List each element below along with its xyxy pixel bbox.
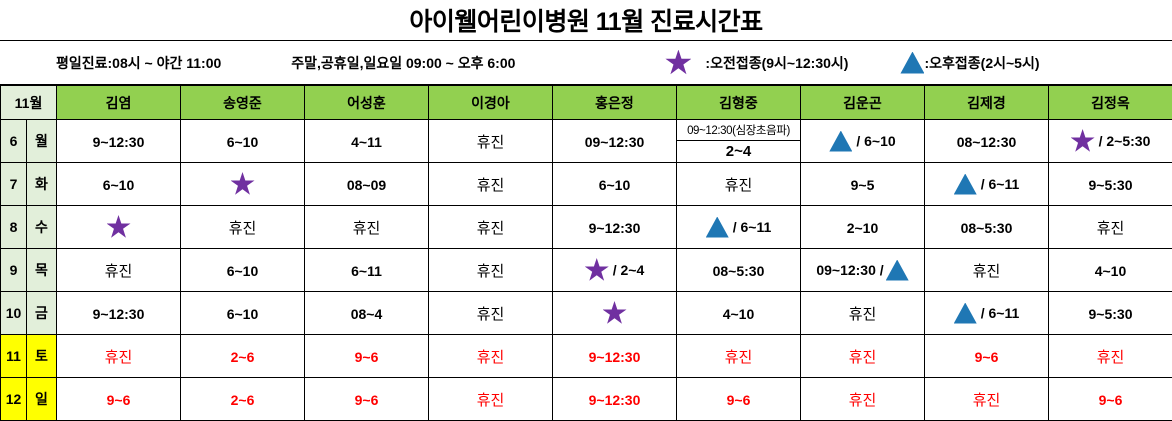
schedule-cell: 휴진 <box>429 120 553 163</box>
schedule-cell: 4~10 <box>1049 249 1172 292</box>
schedule-cell-content: 2~10 <box>847 218 879 234</box>
schedule-cell: 휴진 <box>925 249 1049 292</box>
closed-label: 휴진 <box>105 346 133 367</box>
star-icon <box>665 50 691 76</box>
schedule-cell-content: 9~6 <box>107 390 131 406</box>
schedule-cell-content: 휴진 <box>477 304 505 320</box>
schedule-cell: 휴진 <box>801 378 925 421</box>
schedule-cell-content: / 2~5:30 <box>1071 132 1151 148</box>
schedule-cell-content: 4~10 <box>723 304 755 320</box>
schedule-cell-content: 9~6 <box>1099 390 1123 406</box>
hours-label: / 2~4 <box>613 262 645 278</box>
closed-label: 휴진 <box>353 217 381 238</box>
schedule-cell-content: 08~5:30 <box>961 218 1013 234</box>
hours-label: 6~10 <box>227 134 259 150</box>
schedule-cell-content: 9~12:30 <box>93 304 145 320</box>
schedule-cell-content <box>107 218 131 234</box>
schedule-cell: / 6~11 <box>925 163 1049 206</box>
table-row: 12일9~62~69~6휴진9~12:309~6휴진휴진9~6 <box>1 378 1172 421</box>
legend-afternoon-vaccine: :오후접종(2시~5시) <box>900 52 1039 74</box>
schedule-cell-content: 휴진 <box>477 132 505 148</box>
table-row: 8수휴진휴진휴진9~12:30/ 6~112~1008~5:30휴진 <box>1 206 1172 249</box>
day-of-week-cell: 금 <box>27 292 57 335</box>
schedule-cell-content: 9~5:30 <box>1089 175 1133 191</box>
table-body: 6월9~12:306~104~11휴진09~12:3009~12:30(심장초음… <box>1 120 1172 421</box>
table-row: 11토휴진2~69~6휴진9~12:30휴진휴진9~6휴진 <box>1 335 1172 378</box>
schedule-cell-content: / 6~11 <box>954 175 1020 191</box>
star-icon <box>603 301 627 325</box>
schedule-cell-content: 08~4 <box>351 304 383 320</box>
schedule-cell: 09~12:30 <box>553 120 677 163</box>
hours-label: 08~4 <box>351 306 383 322</box>
hours-label: 9~6 <box>975 349 999 365</box>
schedule-cell-content: 휴진 <box>229 218 257 234</box>
hours-label: 6~10 <box>103 177 135 193</box>
schedule-cell: 08~5:30 <box>925 206 1049 249</box>
closed-label: 휴진 <box>105 260 133 281</box>
schedule-cell-content: 휴진 <box>477 175 505 191</box>
hours-label: 6~11 <box>351 263 382 279</box>
hours-label: / 6~10 <box>856 133 895 149</box>
schedule-cell <box>57 206 181 249</box>
triangle-icon <box>954 303 977 324</box>
weekday-hours-label: 평일진료:08시 ~ 야간 11:00 <box>56 53 221 73</box>
schedule-cell-hours: 2~4 <box>677 141 800 162</box>
schedule-cell: 08~5:30 <box>677 249 801 292</box>
hours-label: 9~6 <box>727 392 751 408</box>
hours-label: 2~10 <box>847 220 879 236</box>
hours-label: 9~6 <box>355 392 379 408</box>
schedule-cell-content: 휴진 <box>973 261 1001 277</box>
schedule-cell: 9~12:30 <box>553 206 677 249</box>
schedule-cell-content: / 6~11 <box>706 218 772 234</box>
closed-label: 휴진 <box>477 303 505 324</box>
schedule-cell-content: 4~10 <box>1095 261 1127 277</box>
hours-label: 9~6 <box>107 392 131 408</box>
schedule-cell: / 2~4 <box>553 249 677 292</box>
table-row: 10금9~12:306~1008~4휴진4~10휴진/ 6~119~5:30 <box>1 292 1172 335</box>
schedule-cell-content: 휴진 <box>477 347 505 363</box>
doctor-column-header: 어성훈 <box>305 86 429 120</box>
triangle-icon <box>706 217 729 238</box>
date-number-cell: 7 <box>1 163 27 206</box>
closed-label: 휴진 <box>477 131 505 152</box>
day-of-week-cell: 화 <box>27 163 57 206</box>
schedule-cell: 휴진 <box>677 163 801 206</box>
triangle-icon <box>954 174 977 195</box>
doctor-column-header: 김제경 <box>925 86 1049 120</box>
day-of-week-cell: 토 <box>27 335 57 378</box>
hours-label: 9~5:30 <box>1089 177 1133 193</box>
date-number-cell: 9 <box>1 249 27 292</box>
schedule-cell: / 6~11 <box>677 206 801 249</box>
schedule-cell: 9~6 <box>305 335 429 378</box>
schedule-cell-content: 6~10 <box>227 132 259 148</box>
hours-label: 2~6 <box>231 392 255 408</box>
schedule-cell: 08~4 <box>305 292 429 335</box>
schedule-cell <box>181 163 305 206</box>
date-number-cell: 10 <box>1 292 27 335</box>
schedule-cell-content: / 6~11 <box>954 304 1020 320</box>
doctor-column-header: 김염 <box>57 86 181 120</box>
schedule-cell-content: 6~10 <box>599 175 631 191</box>
schedule-cell: 9~12:30 <box>57 120 181 163</box>
schedule-cell: 휴진 <box>429 249 553 292</box>
schedule-cell-content: 6~10 <box>227 261 259 277</box>
schedule-cell: 2~6 <box>181 335 305 378</box>
star-icon <box>231 172 255 196</box>
date-number-cell: 6 <box>1 120 27 163</box>
day-of-week-cell: 월 <box>27 120 57 163</box>
closed-label: 휴진 <box>229 217 257 238</box>
schedule-cell: 9~12:30 <box>553 335 677 378</box>
title-bar: 아이웰어린이병원 11월 진료시간표 <box>0 0 1172 41</box>
hours-label: 09~12:30 / <box>816 262 883 278</box>
hours-label: 4~10 <box>723 306 755 322</box>
legend-afternoon-vaccine-label: :오후접종(2시~5시) <box>924 53 1039 73</box>
schedule-cell-content: / 2~4 <box>585 261 645 277</box>
hours-label: 08~5:30 <box>713 263 765 279</box>
hours-label: 9~6 <box>355 349 379 365</box>
hours-label: 9~12:30 <box>93 306 145 322</box>
closed-label: 휴진 <box>849 346 877 367</box>
hours-label: / 6~11 <box>981 305 1020 321</box>
schedule-cell: 휴진 <box>57 249 181 292</box>
schedule-cell-content: 휴진 <box>477 261 505 277</box>
closed-label: 휴진 <box>973 389 1001 410</box>
table-row: 6월9~12:306~104~11휴진09~12:3009~12:30(심장초음… <box>1 120 1172 163</box>
schedule-cell-content: 2~6 <box>231 390 255 406</box>
hours-label: 4~11 <box>351 134 382 150</box>
schedule-cell: 휴진 <box>429 378 553 421</box>
schedule-cell-content: 휴진 <box>1097 218 1125 234</box>
hours-label: 9~5:30 <box>1089 306 1133 322</box>
schedule-cell-content: 휴진 <box>725 175 753 191</box>
schedule-cell-content: 휴진 <box>353 218 381 234</box>
schedule-cell: 휴진 <box>801 292 925 335</box>
schedule-cell: 휴진 <box>429 206 553 249</box>
hours-label: 2~6 <box>231 349 255 365</box>
triangle-icon <box>886 260 909 281</box>
schedule-cell-content: 6~10 <box>103 175 135 191</box>
schedule-cell: 휴진 <box>57 335 181 378</box>
schedule-cell <box>553 292 677 335</box>
schedule-cell-content: 09~12:30 <box>585 132 645 148</box>
closed-label: 휴진 <box>477 217 505 238</box>
schedule-cell: 휴진 <box>429 335 553 378</box>
schedule-cell-content: 9~12:30 <box>93 132 145 148</box>
schedule-cell-content: 09~12:30 / <box>816 261 908 277</box>
schedule-cell-note: 09~12:30(심장초음파) <box>677 120 800 141</box>
schedule-cell-content: 6~11 <box>351 261 382 277</box>
schedule-cell: 휴진 <box>677 335 801 378</box>
hours-label: 4~10 <box>1095 263 1127 279</box>
schedule-cell-content: 08~09 <box>347 175 386 191</box>
date-number-cell: 11 <box>1 335 27 378</box>
schedule-cell-content: 휴진 <box>477 218 505 234</box>
schedule-cell: / 2~5:30 <box>1049 120 1172 163</box>
closed-label: 휴진 <box>477 389 505 410</box>
date-number-cell: 8 <box>1 206 27 249</box>
schedule-cell: 6~11 <box>305 249 429 292</box>
schedule-cell: 9~12:30 <box>553 378 677 421</box>
schedule-cell-content: 휴진 <box>849 347 877 363</box>
schedule-cell: 09~12:30 / <box>801 249 925 292</box>
schedule-cell-content: 08~5:30 <box>713 261 765 277</box>
schedule-cell: 휴진 <box>801 335 925 378</box>
schedule-cell: 9~5 <box>801 163 925 206</box>
hours-label: 9~12:30 <box>589 392 641 408</box>
schedule-cell: 9~6 <box>677 378 801 421</box>
schedule-cell: 휴진 <box>429 163 553 206</box>
schedule-cell: / 6~11 <box>925 292 1049 335</box>
closed-label: 휴진 <box>1097 217 1125 238</box>
closed-label: 휴진 <box>1097 346 1125 367</box>
doctor-column-header: 송영준 <box>181 86 305 120</box>
schedule-cell: 휴진 <box>305 206 429 249</box>
page-title: 아이웰어린이병원 11월 진료시간표 <box>409 2 762 38</box>
closed-label: 휴진 <box>849 303 877 324</box>
schedule-cell: 휴진 <box>181 206 305 249</box>
schedule-cell-content: 휴진 <box>725 347 753 363</box>
schedule-cell: 6~10 <box>181 120 305 163</box>
schedule-cell: 휴진 <box>1049 206 1172 249</box>
schedule-cell-content: 9~6 <box>355 390 379 406</box>
closed-label: 휴진 <box>973 260 1001 281</box>
schedule-cell: 4~11 <box>305 120 429 163</box>
legend-bar: 평일진료:08시 ~ 야간 11:00 주말,공휴일,일요일 09:00 ~ 오… <box>0 41 1172 85</box>
schedule-cell: 9~5:30 <box>1049 163 1172 206</box>
schedule-cell: 9~5:30 <box>1049 292 1172 335</box>
schedule-cell: 6~10 <box>553 163 677 206</box>
triangle-icon <box>829 131 852 152</box>
schedule-cell: 09~12:30(심장초음파)2~4 <box>677 120 801 163</box>
schedule-cell: 2~10 <box>801 206 925 249</box>
legend-morning-vaccine: :오전접종(9시~12:30시) <box>665 50 848 76</box>
month-header: 11월 <box>1 86 57 120</box>
table-row: 9목휴진6~106~11휴진/ 2~408~5:3009~12:30 /휴진4~… <box>1 249 1172 292</box>
schedule-table: 11월 김염송영준어성훈이경아홍은정김형중김운곤김제경김정옥 6월9~12:30… <box>0 85 1172 421</box>
schedule-cell: 6~10 <box>181 249 305 292</box>
legend-morning-vaccine-label: :오전접종(9시~12:30시) <box>705 53 848 73</box>
schedule-cell-content: 9~5:30 <box>1089 304 1133 320</box>
schedule-cell: / 6~10 <box>801 120 925 163</box>
triangle-icon <box>900 52 924 74</box>
day-of-week-cell: 수 <box>27 206 57 249</box>
closed-label: 휴진 <box>725 346 753 367</box>
schedule-cell-content: 9~6 <box>355 347 379 363</box>
schedule-cell-content: 9~12:30 <box>589 390 641 406</box>
schedule-cell-content: 2~6 <box>231 347 255 363</box>
schedule-cell: 9~6 <box>57 378 181 421</box>
hours-label: 08~5:30 <box>961 220 1013 236</box>
hours-label: 09~12:30 <box>585 134 645 150</box>
schedule-cell-content: / 6~10 <box>829 132 895 148</box>
weekend-hours-label: 주말,공휴일,일요일 09:00 ~ 오후 6:00 <box>291 53 515 73</box>
table-head: 11월 김염송영준어성훈이경아홍은정김형중김운곤김제경김정옥 <box>1 86 1172 120</box>
schedule-cell: 휴진 <box>429 292 553 335</box>
schedule-cell: 9~6 <box>1049 378 1172 421</box>
hours-label: / 6~11 <box>733 219 772 235</box>
closed-label: 휴진 <box>477 174 505 195</box>
hours-label: 9~12:30 <box>589 349 641 365</box>
day-of-week-cell: 일 <box>27 378 57 421</box>
schedule-cell: 9~6 <box>305 378 429 421</box>
schedule-cell-content: 9~12:30 <box>589 218 641 234</box>
schedule-page: 아이웰어린이병원 11월 진료시간표 평일진료:08시 ~ 야간 11:00 주… <box>0 0 1172 421</box>
closed-label: 휴진 <box>477 260 505 281</box>
header-row: 11월 김염송영준어성훈이경아홍은정김형중김운곤김제경김정옥 <box>1 86 1172 120</box>
hours-label: 6~10 <box>227 263 259 279</box>
day-of-week-cell: 목 <box>27 249 57 292</box>
hours-label: / 2~5:30 <box>1099 133 1151 149</box>
table-row: 7화6~1008~09휴진6~10휴진9~5/ 6~119~5:30 <box>1 163 1172 206</box>
schedule-cell: 2~6 <box>181 378 305 421</box>
schedule-cell: 6~10 <box>181 292 305 335</box>
hours-label: 9~12:30 <box>589 220 641 236</box>
schedule-cell-content: 휴진 <box>477 390 505 406</box>
hours-label: 9~6 <box>1099 392 1123 408</box>
schedule-cell-content: 휴진 <box>973 390 1001 406</box>
closed-label: 휴진 <box>849 389 877 410</box>
doctor-column-header: 김형중 <box>677 86 801 120</box>
schedule-cell: 08~09 <box>305 163 429 206</box>
schedule-cell-content: 휴진 <box>1097 347 1125 363</box>
doctor-column-header: 김정옥 <box>1049 86 1172 120</box>
hours-label: 08~12:30 <box>957 134 1017 150</box>
schedule-cell: 휴진 <box>1049 335 1172 378</box>
star-icon <box>585 258 609 282</box>
hours-label: 08~09 <box>347 177 386 193</box>
schedule-cell-content: 08~12:30 <box>957 132 1017 148</box>
doctor-column-header: 이경아 <box>429 86 553 120</box>
schedule-cell-content: 휴진 <box>105 347 133 363</box>
schedule-cell-content: 휴진 <box>849 390 877 406</box>
date-number-cell: 12 <box>1 378 27 421</box>
hours-label: 9~5 <box>851 177 875 193</box>
schedule-cell: 08~12:30 <box>925 120 1049 163</box>
schedule-cell-content: 6~10 <box>227 304 259 320</box>
schedule-cell-content <box>231 175 255 191</box>
schedule-cell: 4~10 <box>677 292 801 335</box>
schedule-cell: 9~6 <box>925 335 1049 378</box>
schedule-cell-content <box>603 304 627 320</box>
closed-label: 휴진 <box>477 346 505 367</box>
schedule-cell: 휴진 <box>925 378 1049 421</box>
hours-label: 9~12:30 <box>93 134 145 150</box>
hours-label: 6~10 <box>599 177 631 193</box>
schedule-cell: 9~12:30 <box>57 292 181 335</box>
schedule-cell-content: 4~11 <box>351 132 382 148</box>
schedule-cell-content: 9~6 <box>975 347 999 363</box>
schedule-cell-content: 9~6 <box>727 390 751 406</box>
schedule-cell-content: 9~12:30 <box>589 347 641 363</box>
star-icon <box>107 215 131 239</box>
doctor-column-header: 김운곤 <box>801 86 925 120</box>
schedule-cell: 6~10 <box>57 163 181 206</box>
hours-label: 6~10 <box>227 306 259 322</box>
schedule-cell-content: 9~5 <box>851 175 875 191</box>
doctor-column-header: 홍은정 <box>553 86 677 120</box>
schedule-cell-content: 휴진 <box>849 304 877 320</box>
star-icon <box>1071 129 1095 153</box>
hours-label: / 6~11 <box>981 176 1020 192</box>
schedule-cell-content: 휴진 <box>105 261 133 277</box>
closed-label: 휴진 <box>725 174 753 195</box>
